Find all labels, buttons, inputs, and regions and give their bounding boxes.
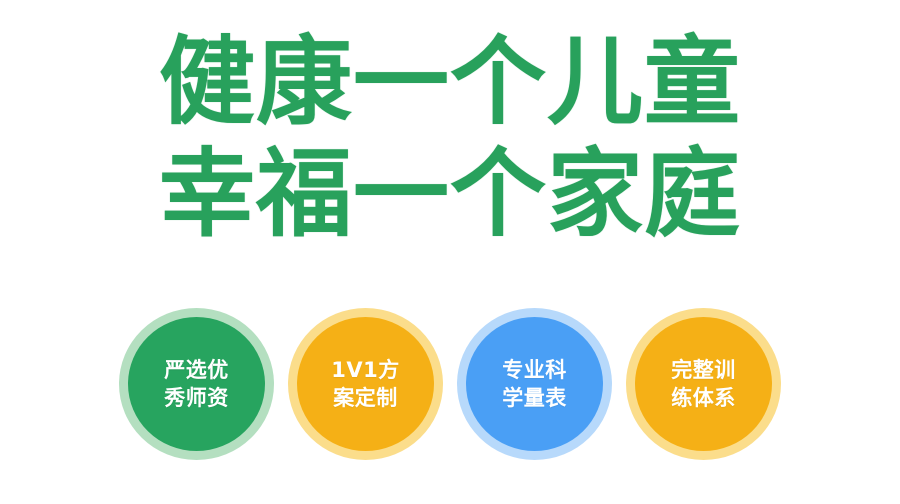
badge-label: 1V1方 案定制	[310, 356, 422, 412]
badge-training-system[interactable]: 完整训 练体系	[626, 308, 781, 460]
badge-label-line-1: 严选优	[141, 356, 253, 384]
badge-label: 完整训 练体系	[648, 356, 760, 412]
headline-line-1: 健康一个儿童	[0, 26, 900, 138]
badge-label-line-1: 专业科	[479, 356, 591, 384]
badge-label-line-2: 案定制	[310, 384, 422, 412]
badge-one-on-one-plan[interactable]: 1V1方 案定制	[288, 308, 443, 460]
badge-label-line-2: 练体系	[648, 384, 760, 412]
promo-poster: 健康一个儿童 幸福一个家庭 严选优 秀师资 1V1方 案定制 专业科 学	[0, 0, 900, 504]
badge-label-line-1: 完整训	[648, 356, 760, 384]
badge-label-line-2: 学量表	[479, 384, 591, 412]
badge-label: 专业科 学量表	[479, 356, 591, 412]
headline-line-2: 幸福一个家庭	[0, 138, 900, 250]
feature-badge-row: 严选优 秀师资 1V1方 案定制 专业科 学量表 完整训	[0, 308, 900, 464]
badge-scientific-scale[interactable]: 专业科 学量表	[457, 308, 612, 460]
headline-block: 健康一个儿童 幸福一个家庭	[0, 26, 900, 250]
badge-label-line-1: 1V1方	[310, 356, 422, 384]
badge-label: 严选优 秀师资	[141, 356, 253, 412]
badge-teachers[interactable]: 严选优 秀师资	[119, 308, 274, 460]
badge-label-line-2: 秀师资	[141, 384, 253, 412]
